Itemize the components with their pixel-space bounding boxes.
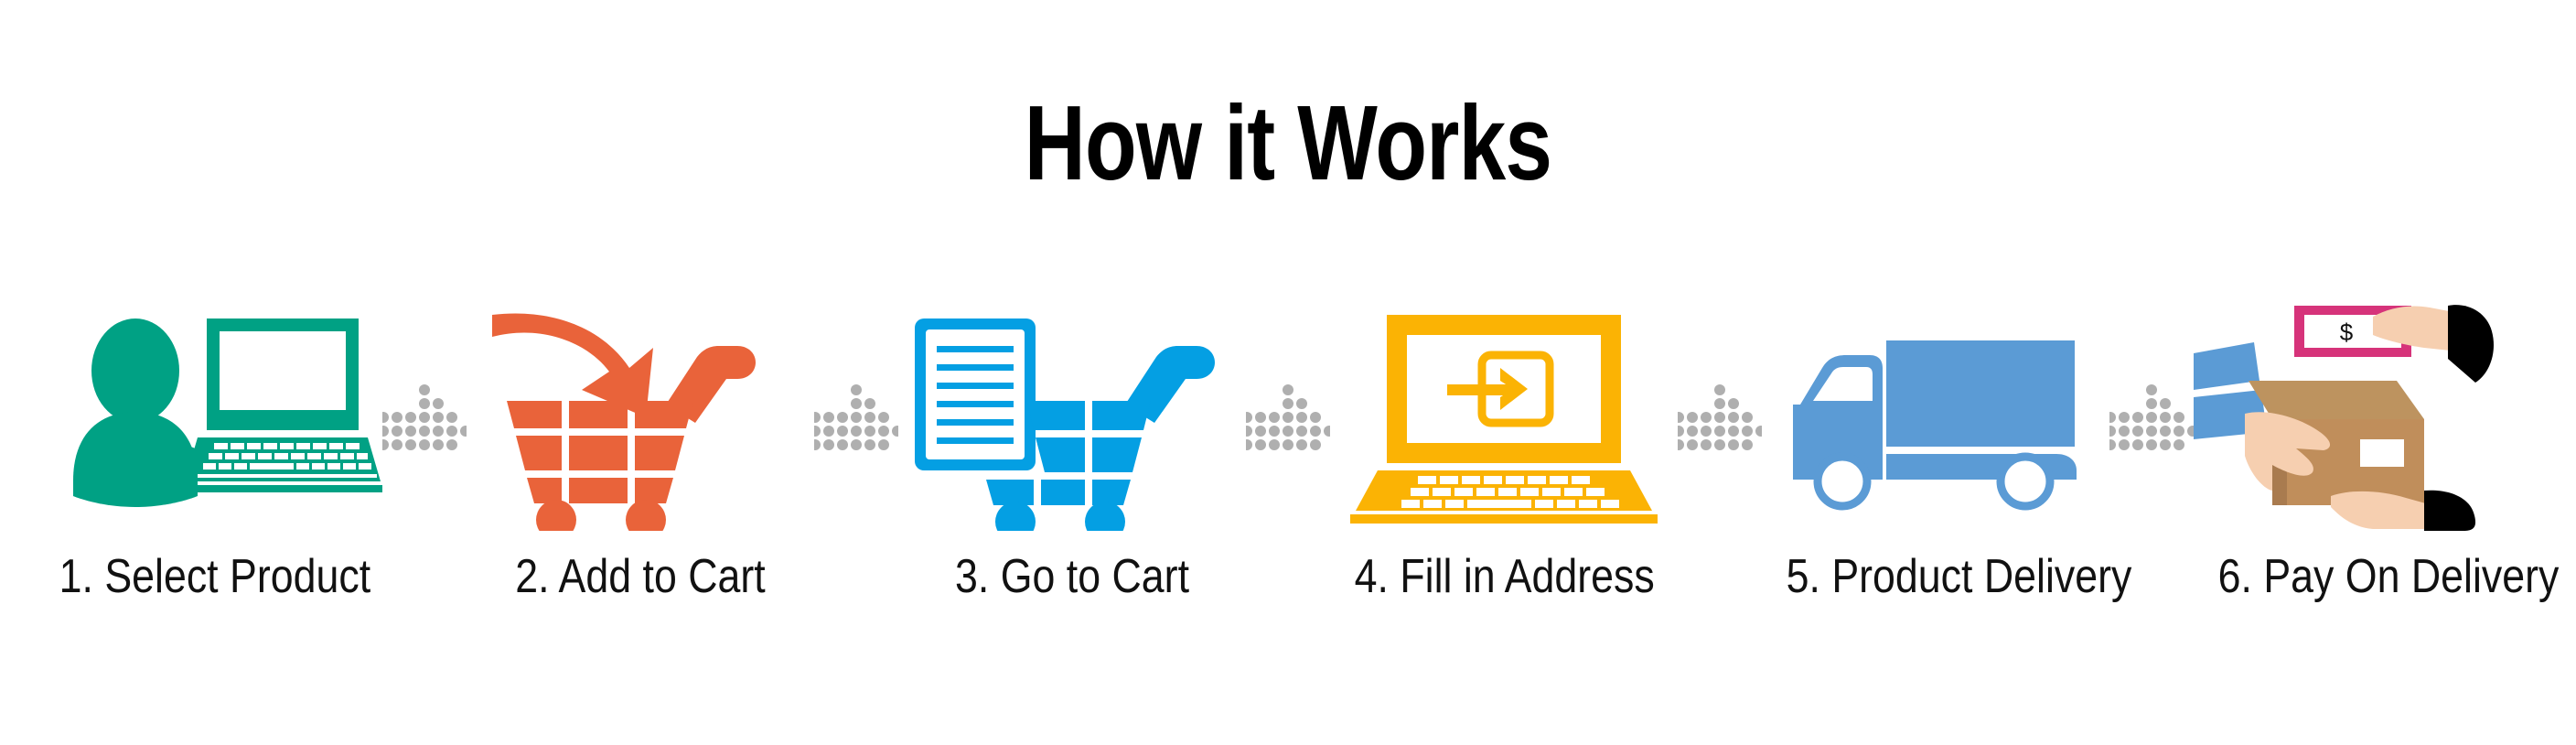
dotted-right-arrow-icon	[1678, 383, 1762, 456]
step-4-fill-in-address[interactable]: 4. Fill in Address	[1330, 302, 1678, 632]
step-6-label: 6. Pay On Delivery	[2218, 551, 2517, 602]
step-5-product-delivery[interactable]: 5. Product Delivery	[1762, 302, 2109, 632]
curved-arrow-into-cart-icon	[467, 302, 814, 531]
separator-arrow-1	[382, 302, 467, 531]
step-5-illustration	[1762, 302, 2109, 531]
page-title: How it Works	[258, 88, 2319, 198]
step-2-add-to-cart[interactable]: 2. Add to Cart	[467, 302, 814, 632]
step-1-select-product[interactable]: 1. Select Product	[35, 302, 382, 632]
money-symbol: $	[2340, 319, 2354, 346]
person-at-laptop-icon	[35, 302, 382, 531]
step-3-label: 3. Go to Cart	[923, 551, 1222, 602]
separator-arrow-2	[814, 302, 898, 531]
hands-exchanging-box-and-cash-icon: $	[2194, 302, 2541, 531]
dotted-right-arrow-icon	[2109, 383, 2194, 456]
dotted-right-arrow-icon	[1246, 383, 1330, 456]
document-and-cart-icon	[898, 302, 1246, 531]
step-3-go-to-cart[interactable]: 3. Go to Cart	[898, 302, 1246, 632]
separator-arrow-5	[2109, 302, 2194, 531]
separator-arrow-4	[1678, 302, 1762, 531]
step-4-illustration	[1330, 302, 1678, 531]
laptop-login-form-icon	[1330, 302, 1678, 531]
step-1-label: 1. Select Product	[59, 551, 359, 602]
step-1-illustration	[35, 302, 382, 531]
dotted-right-arrow-icon	[814, 383, 898, 456]
step-6-illustration: $	[2194, 302, 2541, 531]
delivery-truck-icon	[1762, 302, 2109, 531]
step-5-label: 5. Product Delivery	[1787, 551, 2086, 602]
step-4-label: 4. Fill in Address	[1355, 551, 1654, 602]
how-it-works-infographic: How it Works	[0, 0, 2576, 745]
steps-row: 1. Select Product	[0, 302, 2576, 632]
step-6-pay-on-delivery[interactable]: $	[2194, 302, 2541, 632]
dotted-right-arrow-icon	[382, 383, 467, 456]
step-3-illustration	[898, 302, 1246, 531]
step-2-label: 2. Add to Cart	[491, 551, 790, 602]
step-2-illustration	[467, 302, 814, 531]
separator-arrow-3	[1246, 302, 1330, 531]
